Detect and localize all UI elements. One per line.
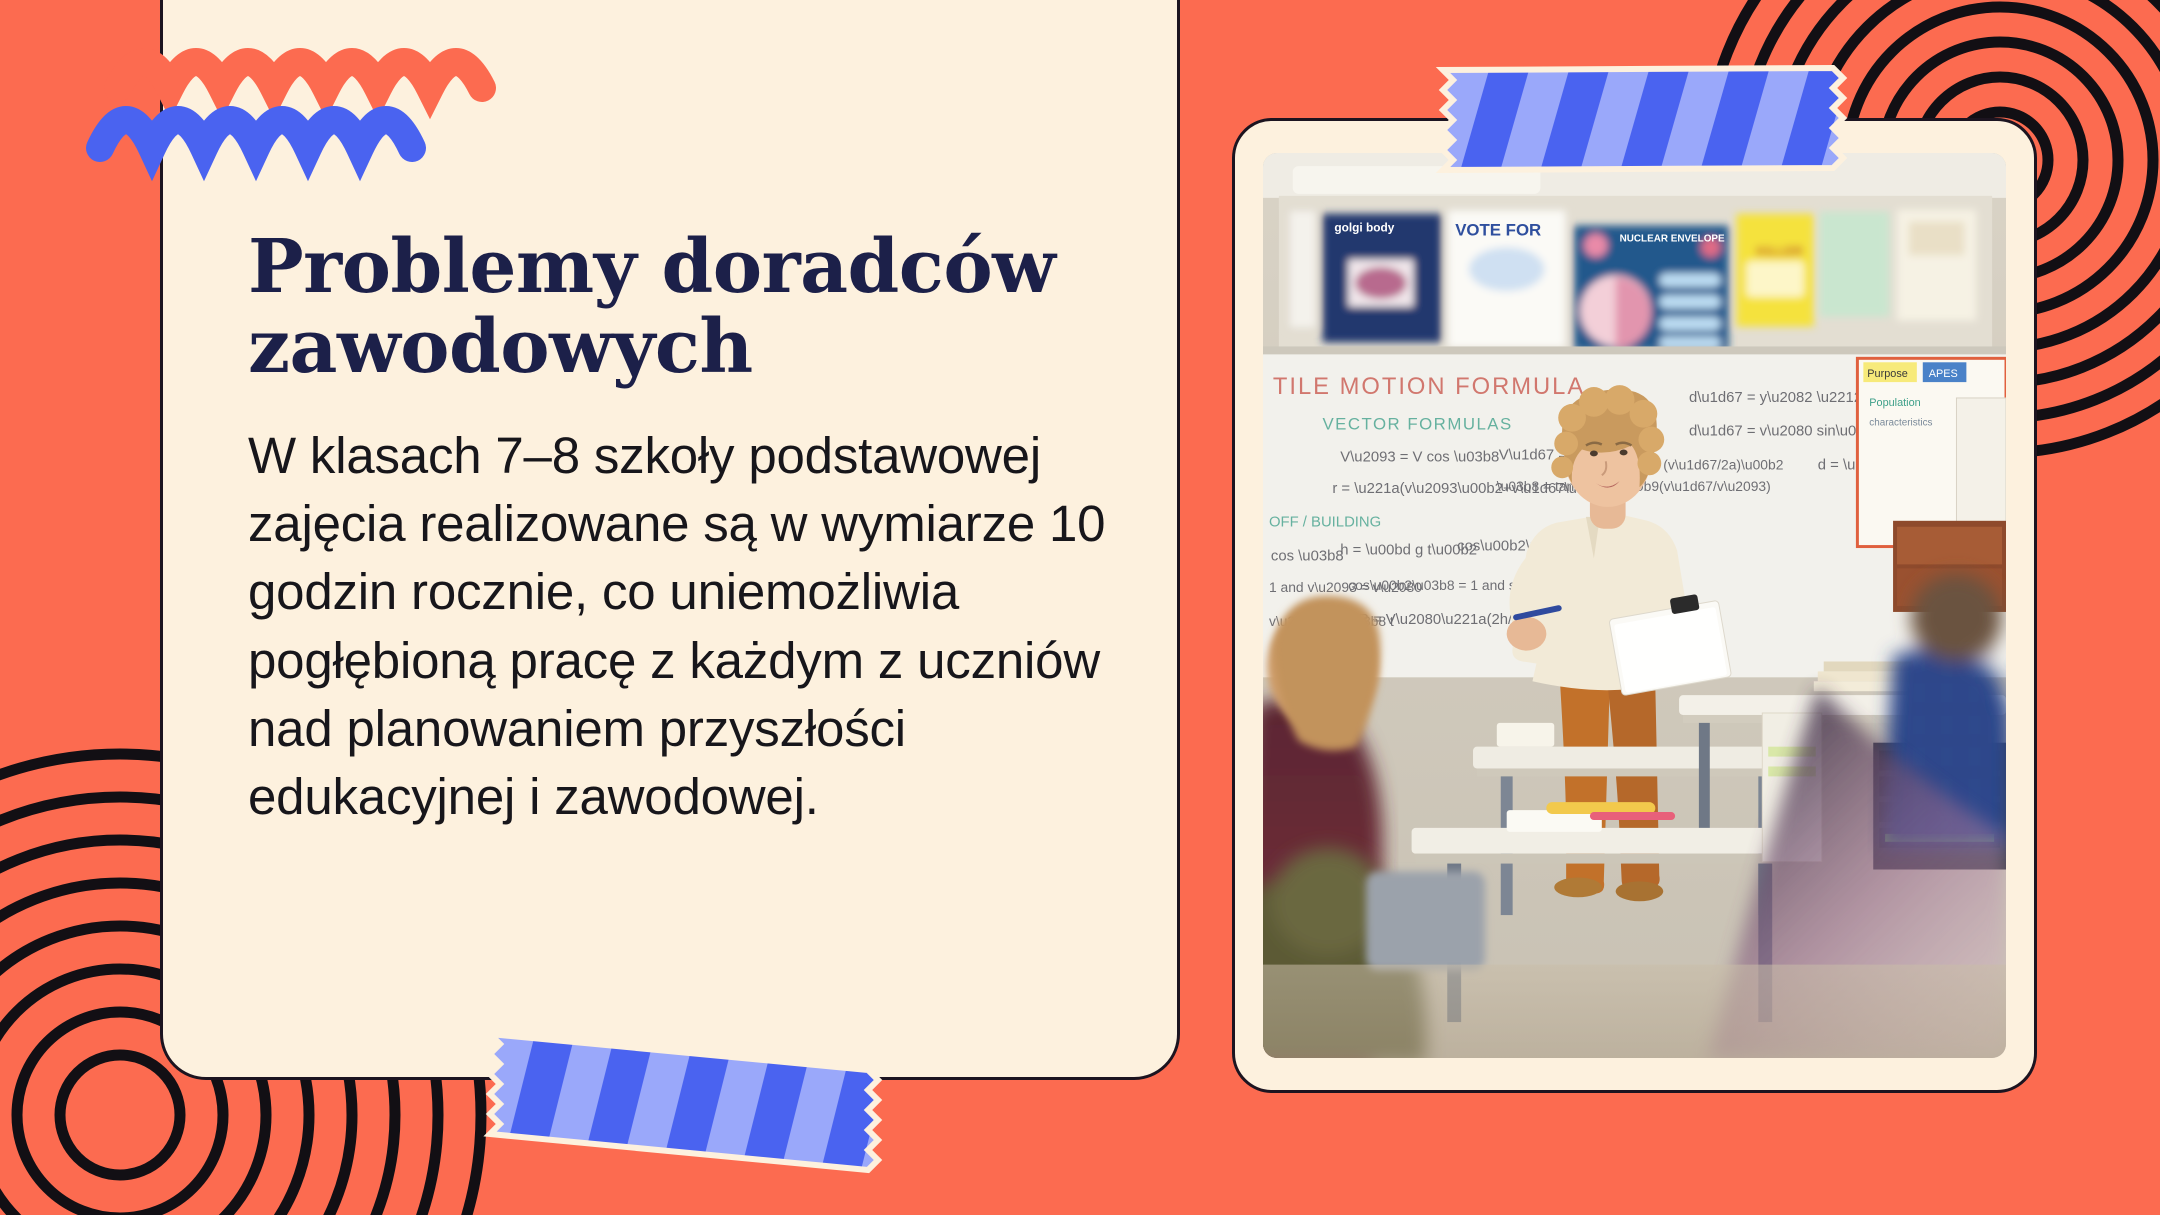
svg-text:APES: APES xyxy=(1929,368,1958,380)
svg-text:KILLER: KILLER xyxy=(1756,243,1803,258)
svg-text:(v\u1d67/2a)\u00b2: (v\u1d67/2a)\u00b2 xyxy=(1663,456,1783,472)
body-paragraph: W klasach 7–8 szkoły podstawowej zajęcia… xyxy=(248,422,1148,832)
svg-text:Population: Population xyxy=(1869,397,1920,409)
svg-text:V\u2093 = V cos \u03b8: V\u2093 = V cos \u03b8 xyxy=(1340,449,1499,465)
wavy-squiggle-decoration-icon xyxy=(118,30,498,160)
svg-text:TILE MOTION FORMULA: TILE MOTION FORMULA xyxy=(1273,373,1585,400)
svg-text:Purpose: Purpose xyxy=(1867,368,1908,380)
photo-frame: KILLER golgi body VOTE FOR NUCLEAR ENVEL… xyxy=(1232,118,2037,1093)
page-title: Problemy doradców zawodowych xyxy=(248,228,1078,388)
svg-text:characteristics: characteristics xyxy=(1869,418,1932,429)
slide-root: Problemy doradców zawodowych W klasach 7… xyxy=(0,0,2160,1215)
svg-text:golgi body: golgi body xyxy=(1334,221,1394,235)
svg-text:NUCLEAR ENVELOPE: NUCLEAR ENVELOPE xyxy=(1620,233,1725,244)
svg-text:VOTE FOR: VOTE FOR xyxy=(1455,220,1541,239)
svg-text:R = V\u2080\u221a(2h/g): R = V\u2080\u221a(2h/g) xyxy=(1358,612,1525,628)
svg-text:OFF / BUILDING: OFF / BUILDING xyxy=(1269,515,1381,531)
classroom-photo: KILLER golgi body VOTE FOR NUCLEAR ENVEL… xyxy=(1263,153,2006,1058)
text-block: Problemy doradców zawodowych W klasach 7… xyxy=(248,228,1168,832)
svg-text:VECTOR FORMULAS: VECTOR FORMULAS xyxy=(1322,415,1512,434)
svg-text:cos \u03b8: cos \u03b8 xyxy=(1271,548,1344,564)
